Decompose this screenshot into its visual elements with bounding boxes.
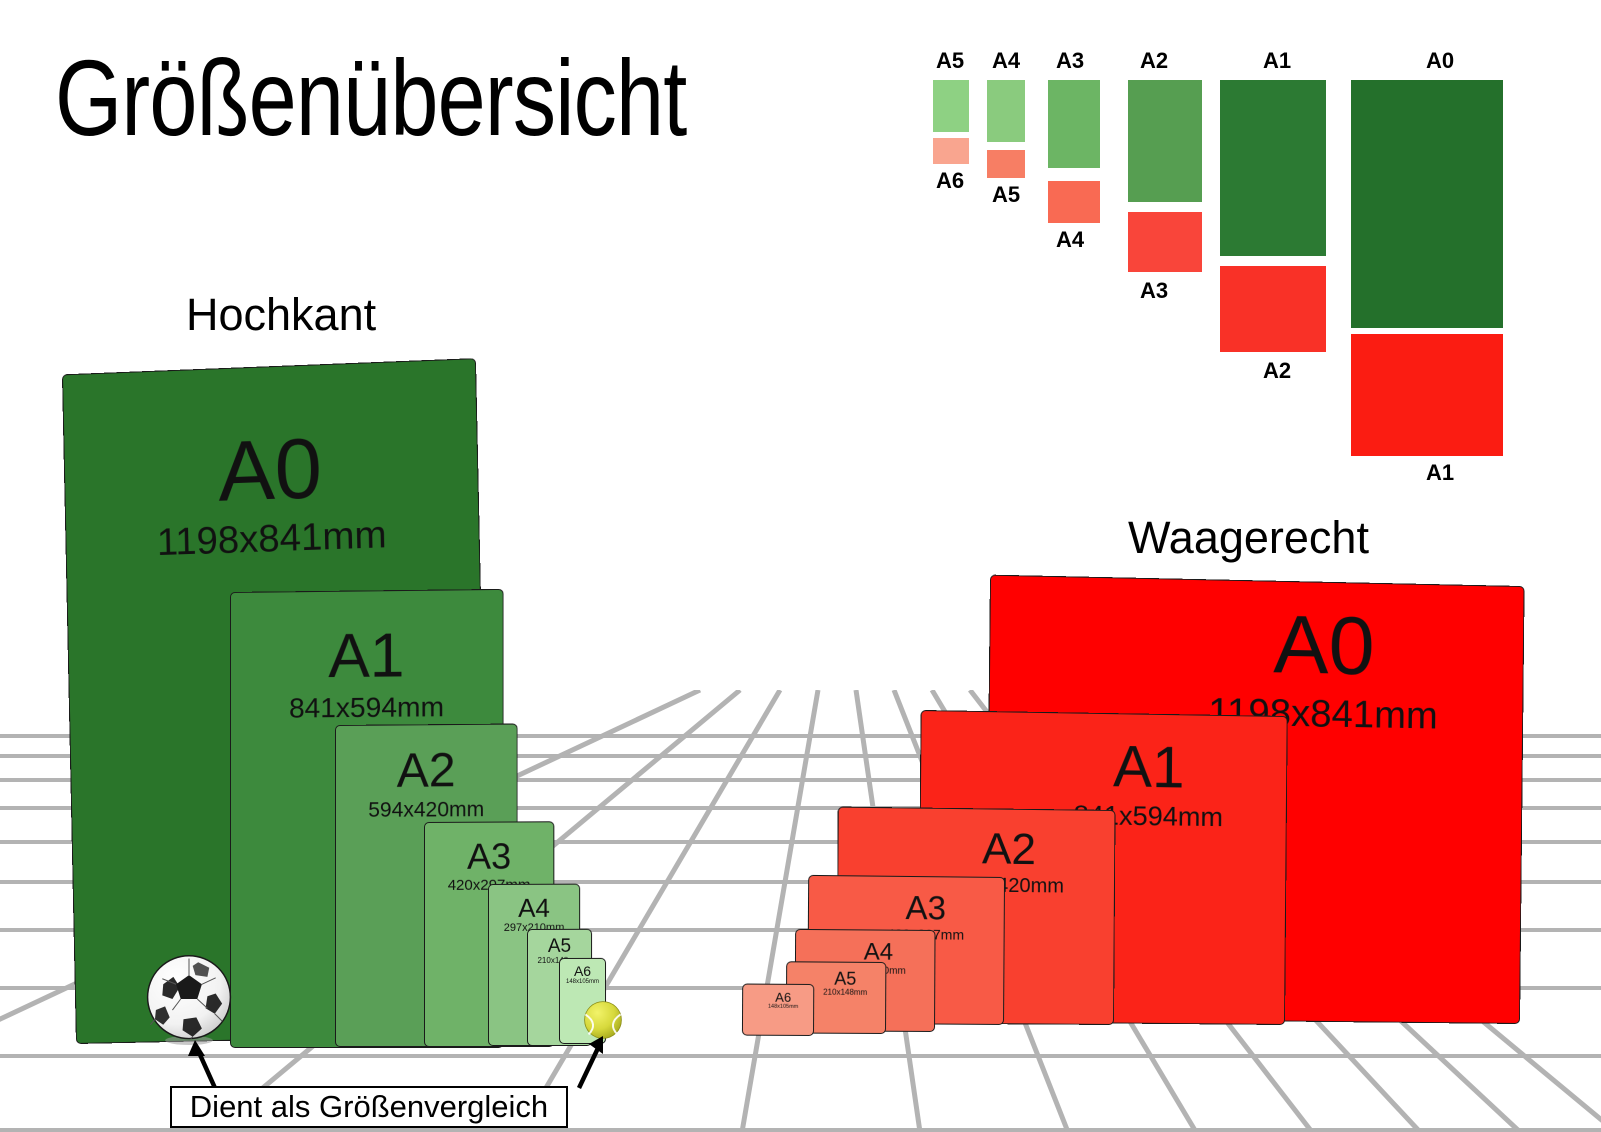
- legend-top-label-2: A4: [980, 48, 1032, 74]
- callout-arrow-to-soccer-ball: [185, 1038, 225, 1090]
- sheet-name: A1: [1022, 737, 1274, 799]
- landscape-sheet-a5-label: A5 210x148mm: [809, 969, 881, 996]
- legend-top-label-3: A3: [1042, 48, 1098, 74]
- sheet-name: A4: [489, 895, 579, 921]
- legend-bottom-label-5: A2: [1241, 358, 1313, 384]
- legend-top-label-5: A1: [1241, 48, 1313, 74]
- legend-bottom-label-4: A3: [1123, 278, 1185, 304]
- legend-green-rect-2: [987, 80, 1025, 142]
- sheet-name: A2: [336, 747, 517, 796]
- legend-green-rect-5: [1220, 80, 1326, 256]
- portrait-sheet-a2-label: A2 594x420mm: [336, 747, 517, 821]
- legend-green-rect-6: [1351, 80, 1503, 328]
- landscape-sheet-a6-label: A6 148x105mm: [756, 991, 810, 1011]
- sheet-name: A3: [425, 838, 553, 875]
- legend-bottom-label-2: A5: [980, 182, 1032, 208]
- legend-green-rect-1: [933, 80, 969, 132]
- legend-bottom-label-3: A4: [1042, 227, 1098, 253]
- portrait-section-caption: Hochkant: [186, 289, 376, 341]
- portrait-sheet-a1-label: A1 841x594mm: [231, 624, 503, 723]
- sheet-dims: 210x148mm: [809, 989, 881, 997]
- sheet-name: A1: [231, 624, 503, 689]
- portrait-sheet-a6-label: A6 148x105mm: [560, 964, 605, 985]
- legend-top-label-4: A2: [1123, 48, 1185, 74]
- page-title: Größenübersicht: [55, 44, 686, 152]
- portrait-sheet-a0-label: A0 1198x841mm: [64, 420, 479, 565]
- sheet-name: A0: [64, 420, 478, 519]
- legend-red-rect-4: [1128, 212, 1202, 272]
- legend-red-rect-2: [987, 150, 1025, 178]
- legend-top-label-6: A0: [1400, 48, 1480, 74]
- size-legend: A5 A6 A4 A5 A3 A4 A2 A3 A1: [905, 40, 1595, 480]
- legend-bottom-label-6: A1: [1400, 460, 1480, 486]
- legend-bottom-label-1: A6: [925, 168, 975, 194]
- sheet-dims: 594x420mm: [336, 799, 517, 821]
- sheet-dims: 148x105mm: [560, 979, 605, 985]
- legend-red-rect-1: [933, 138, 969, 164]
- sheet-name: A3: [855, 890, 996, 924]
- sheet-name: A5: [528, 937, 591, 956]
- callout-arrow-to-tennis-ball: [565, 1030, 611, 1090]
- sheet-name: A5: [809, 969, 881, 987]
- legend-green-rect-4: [1128, 80, 1202, 202]
- size-comparison-callout: Dient als Größenvergleich: [170, 1086, 568, 1128]
- sheet-dims: 148x105mm: [756, 1005, 810, 1011]
- callout-text: Dient als Größenvergleich: [172, 1088, 566, 1126]
- soccer-ball-icon: [143, 953, 235, 1045]
- landscape-sheet-a6[interactable]: A6 148x105mm: [742, 984, 814, 1036]
- legend-red-rect-5: [1220, 266, 1326, 352]
- legend-green-rect-3: [1048, 80, 1100, 168]
- sheet-name: A0: [1141, 601, 1505, 691]
- legend-top-label-1: A5: [925, 48, 975, 74]
- sheet-name: A6: [756, 991, 810, 1004]
- sheet-dims: 841x594mm: [231, 693, 503, 723]
- legend-red-rect-6: [1351, 334, 1503, 456]
- legend-red-rect-3: [1048, 181, 1100, 223]
- sheet-name: A2: [913, 827, 1104, 873]
- sheet-name: A6: [560, 964, 605, 978]
- sheet-dims: 1198x841mm: [66, 513, 479, 565]
- portrait-landscape-caption: Waagerecht: [1128, 512, 1369, 564]
